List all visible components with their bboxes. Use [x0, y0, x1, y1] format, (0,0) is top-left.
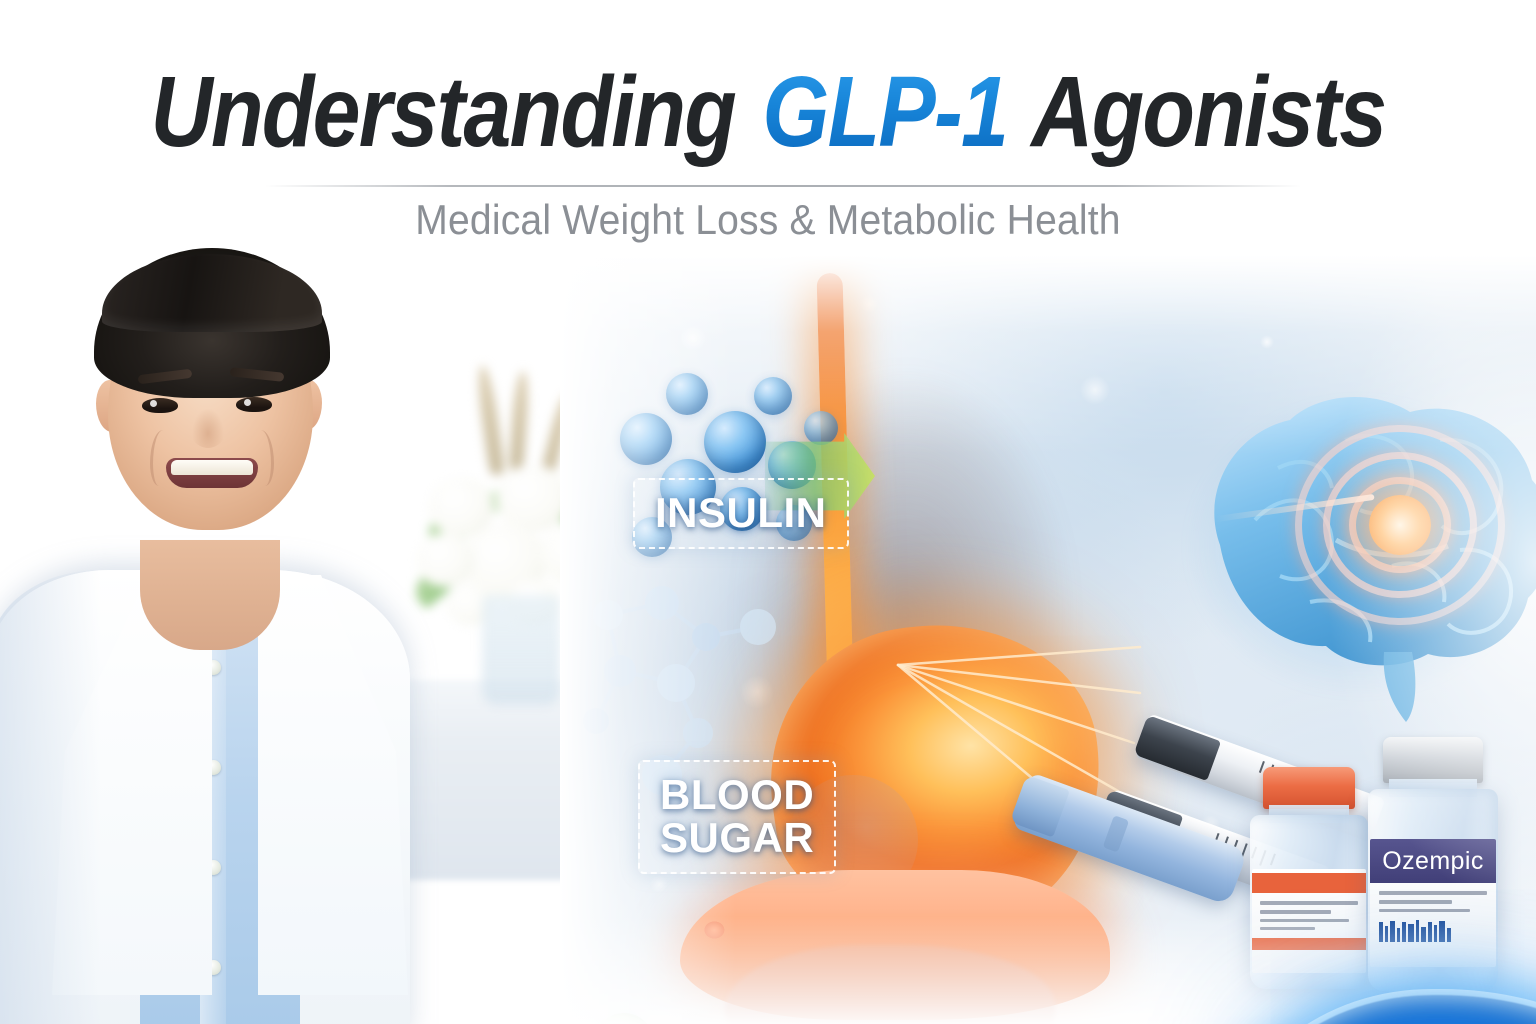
- vial-brand-name: Ozempic: [1382, 846, 1483, 876]
- label-sugar-text: SUGAR: [660, 817, 814, 860]
- vial-label: [1252, 869, 1366, 973]
- science-collage: GLP-1: [560, 255, 1536, 1024]
- page-subtitle: Medical Weight Loss & Metabolic Health: [54, 196, 1482, 244]
- title-divider: [265, 185, 1301, 187]
- nose: [186, 390, 230, 448]
- label-insulin: INSULIN: [633, 478, 849, 549]
- injection-pen-blue: [1012, 772, 1248, 905]
- label-insulin-text: INSULIN: [655, 492, 827, 535]
- vial-cap-orange: [1263, 767, 1355, 809]
- hair-sweep: [102, 254, 322, 332]
- label-blood-sugar: BLOOD SUGAR: [638, 760, 836, 874]
- coat-shadow: [0, 570, 100, 1024]
- poster-header: Understanding GLP-1 Agonists Medical Wei…: [0, 0, 1536, 265]
- vial-cap-gray: [1383, 737, 1483, 783]
- eye-shine-right: [244, 399, 251, 406]
- vial-ozempic: Ozempic: [1368, 741, 1498, 991]
- eye-left: [142, 398, 178, 413]
- mouth: [166, 458, 258, 488]
- page-title: Understanding GLP-1 Agonists: [108, 62, 1429, 162]
- poster-canvas: GLP-1: [0, 0, 1536, 1024]
- label-blood-text: BLOOD: [660, 774, 814, 817]
- title-part-1: Understanding: [151, 56, 735, 168]
- neck: [140, 540, 280, 650]
- pen-cap: [1010, 775, 1070, 838]
- title-part-2: Agonists: [1031, 56, 1385, 168]
- glp1-glow-badge: GLP-1: [1235, 995, 1536, 1024]
- glp1-glow-label: GLP-1: [1243, 995, 1536, 1024]
- vial-unbranded: [1250, 771, 1368, 989]
- barcode: [1379, 920, 1487, 942]
- eye-right: [236, 397, 272, 412]
- vial-label: Ozempic: [1370, 839, 1496, 967]
- title-highlight: GLP-1: [757, 56, 1012, 168]
- eye-shine-left: [150, 400, 157, 407]
- flower-vase: [482, 595, 560, 705]
- doctor-portrait: [0, 240, 420, 1024]
- teeth: [171, 460, 253, 475]
